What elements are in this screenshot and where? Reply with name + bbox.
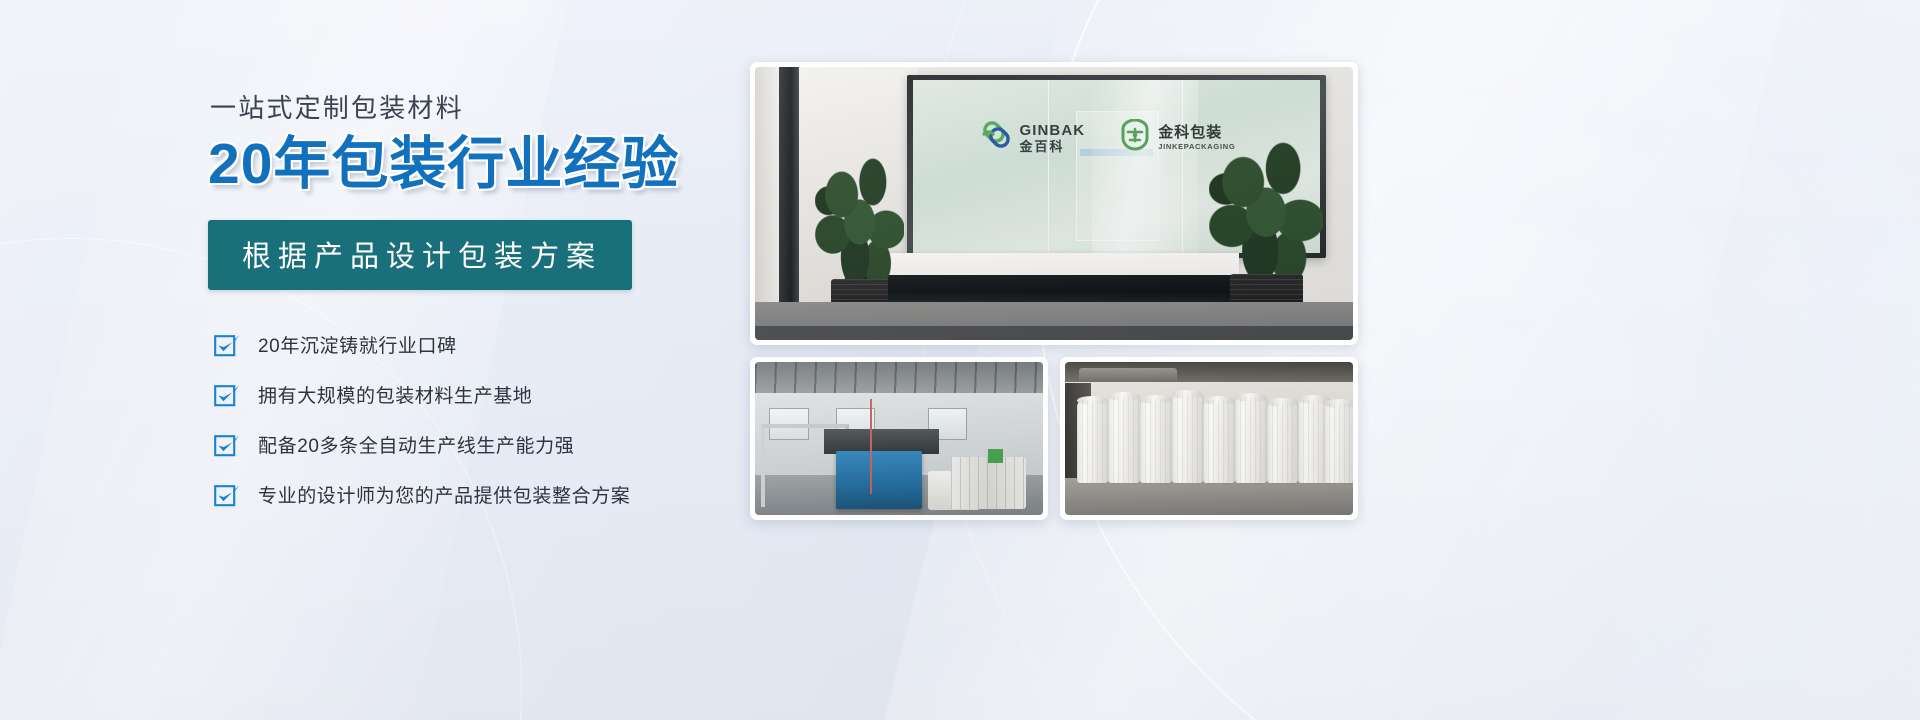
checkbox-checked-icon bbox=[214, 483, 240, 509]
list-item: 配备20多条全自动生产线生产能力强 bbox=[214, 432, 828, 460]
wall-left bbox=[755, 67, 779, 340]
feature-label: 配备20多条全自动生产线生产能力强 bbox=[258, 437, 574, 456]
feature-list: 20年沉淀铸就行业口碑 拥有大规模的包装材料生产基地 bbox=[214, 332, 828, 510]
jinke-logo-cn: 金科包装 bbox=[1158, 125, 1235, 140]
glass-sheen bbox=[1092, 80, 1198, 253]
feature-label: 20年沉淀铸就行业口碑 bbox=[258, 337, 457, 356]
photo-collage: GINBAK 金百科 bbox=[750, 62, 1358, 520]
cta-button[interactable]: 根据产品设计包装方案 bbox=[208, 220, 632, 290]
paper-roll bbox=[1077, 400, 1109, 483]
checkbox-checked-icon bbox=[214, 383, 240, 409]
ginbak-logo: GINBAK 金百科 bbox=[978, 118, 1085, 157]
factory-scene bbox=[755, 362, 1043, 515]
paper-roll bbox=[1235, 397, 1267, 483]
hero-text-column: 一站式定制包装材料 20年包装行业经验 根据产品设计包装方案 20年沉淀铸就行业… bbox=[208, 94, 828, 532]
page-title: 20年包装行业经验 bbox=[208, 135, 828, 195]
showroom-reception-photo[interactable]: GINBAK 金百科 bbox=[750, 62, 1358, 345]
paper-roll bbox=[1267, 402, 1299, 483]
showroom-scene: GINBAK 金百科 bbox=[755, 67, 1353, 340]
red-pipe bbox=[870, 399, 872, 494]
hero-banner: 一站式定制包装材料 20年包装行业经验 根据产品设计包装方案 20年沉淀铸就行业… bbox=[0, 0, 1920, 720]
paper-roll bbox=[1203, 400, 1235, 483]
exit-sign bbox=[988, 449, 1002, 463]
factory-ceiling bbox=[755, 362, 1043, 396]
ginbak-logo-en: GINBAK bbox=[1019, 123, 1085, 138]
paper-roll bbox=[1140, 399, 1172, 483]
material-rolls bbox=[951, 457, 1026, 509]
floor-shadow bbox=[755, 326, 1353, 340]
feature-label: 拥有大规模的包装材料生产基地 bbox=[258, 387, 532, 406]
ginbak-interlock-icon bbox=[978, 118, 1012, 157]
warehouse-scene bbox=[1065, 362, 1353, 515]
potted-plant-right bbox=[1209, 141, 1323, 327]
production-line-photo[interactable] bbox=[750, 357, 1048, 520]
checkbox-checked-icon bbox=[214, 433, 240, 459]
ginbak-logo-text: GINBAK 金百科 bbox=[1019, 123, 1085, 153]
eyebrow-text: 一站式定制包装材料 bbox=[210, 94, 828, 123]
paper-roll bbox=[1172, 394, 1204, 483]
feature-label: 专业的设计师为您的产品提供包装整合方案 bbox=[258, 487, 630, 506]
paper-roll bbox=[1324, 403, 1353, 483]
list-item: 专业的设计师为您的产品提供包装整合方案 bbox=[214, 482, 828, 510]
jinke-shield-icon bbox=[1119, 119, 1151, 156]
list-item: 20年沉淀铸就行业口碑 bbox=[214, 332, 828, 360]
list-item: 拥有大规模的包装材料生产基地 bbox=[214, 382, 828, 410]
paper-roll bbox=[1108, 396, 1140, 483]
ginbak-logo-cn: 金百科 bbox=[1019, 140, 1085, 153]
paper-rolls-photo[interactable] bbox=[1060, 357, 1358, 520]
wall-logo-group: GINBAK 金百科 bbox=[978, 118, 1235, 157]
blue-machine bbox=[836, 451, 922, 509]
dark-column bbox=[779, 67, 799, 307]
checkbox-checked-icon bbox=[214, 333, 240, 359]
